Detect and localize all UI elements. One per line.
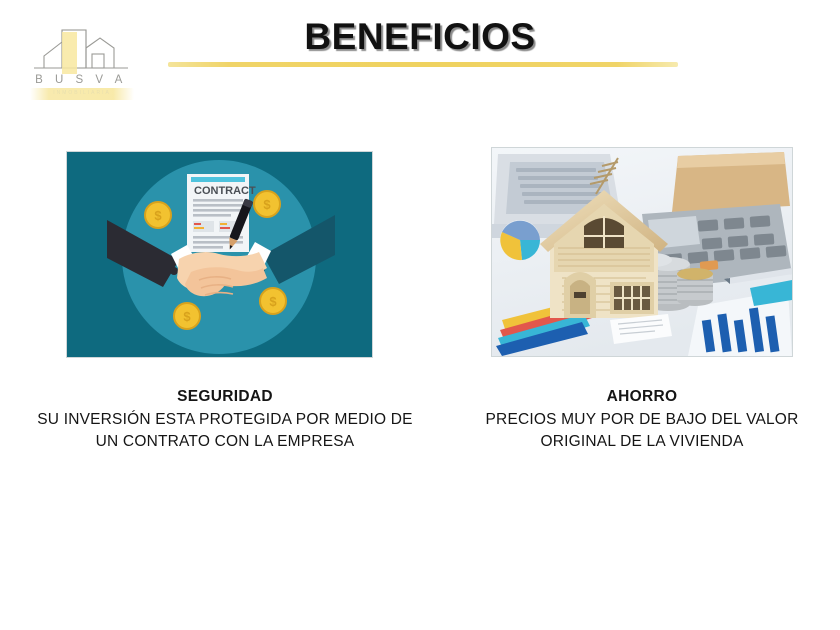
benefit-body-seguridad: SU INVERSIÓN ESTA PROTEGIDA POR MEDIO DE… [30,409,420,453]
benefit-heading-seguridad: SEGURIDAD [30,388,420,406]
svg-text:$: $ [183,309,191,324]
svg-text:$: $ [269,294,277,309]
benefit-body-ahorro: PRECIOS MUY POR DE BAJO DEL VALOR ORIGIN… [458,409,826,453]
benefit-caption-seguridad: SEGURIDAD SU INVERSIÓN ESTA PROTEGIDA PO… [30,388,420,453]
benefit-caption-ahorro: AHORRO PRECIOS MUY POR DE BAJO DEL VALOR… [458,388,826,453]
svg-text:$: $ [154,208,162,223]
logo-tagline: INMOBILIARIA [32,90,132,96]
logo-wordmark: B U S V A [26,74,136,86]
benefit-image-ahorro [492,148,792,356]
title-underline-rule [168,62,678,67]
slide-canvas: B U S V A INMOBILIARIA BENEFICIOS CONTRA… [0,0,840,630]
benefit-image-seguridad: CONTRACT [67,152,372,357]
page-title: BENEFICIOS [0,16,840,58]
svg-text:CONTRACT: CONTRACT [194,185,256,197]
benefit-heading-ahorro: AHORRO [458,388,826,406]
svg-text:$: $ [263,197,271,212]
